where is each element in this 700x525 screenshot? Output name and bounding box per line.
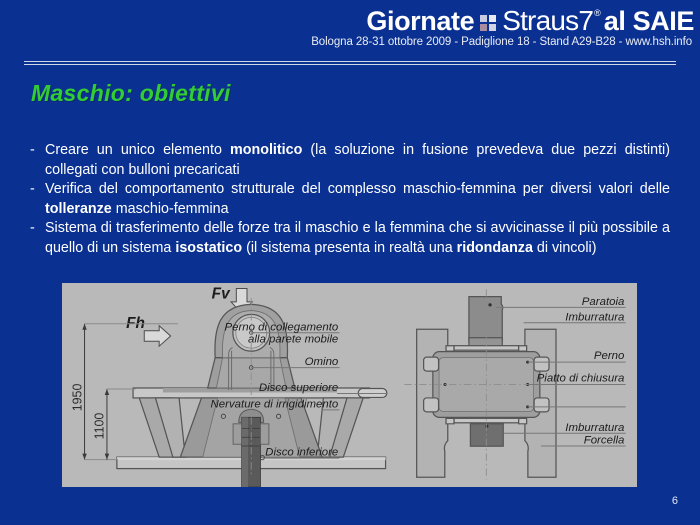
header-title-line: Giornate Straus7 ® al SAIE	[311, 6, 694, 36]
label-perno-collegamento-2: alla parete mobile	[248, 334, 338, 346]
header-branding: Giornate Straus7 ® al SAIE Bologna 28-31…	[311, 6, 694, 48]
label-forcella: Forcella	[584, 434, 625, 446]
bullet-item: -Verifica del comportamento strutturale …	[30, 180, 670, 219]
label-omino: Omino	[305, 356, 339, 368]
slide-header: Giornate Straus7 ® al SAIE Bologna 28-31…	[0, 0, 700, 66]
page-title: Maschio: obiettivi	[31, 80, 231, 107]
bullet-segment: maschio-femmina	[112, 201, 229, 217]
bullet-item: -Sistema di trasferimento delle forze tr…	[30, 219, 670, 258]
technical-drawing-figure: Fv Fh	[62, 283, 637, 487]
header-title-part2: al SAIE	[604, 6, 694, 36]
page-number: 6	[672, 495, 678, 507]
label-perno-collegamento-1: Perno di collegamento	[224, 321, 338, 333]
label-nervature-irrigidimento: Nervature di irrigidimento	[211, 398, 339, 410]
dimension-label-1950: 1950	[70, 384, 84, 412]
label-imburratura-bottom: Imburratura	[565, 422, 624, 434]
bullet-emphasis: ridondanza	[457, 240, 533, 256]
bullet-marker: -	[30, 180, 45, 200]
bullet-emphasis: isostatico	[175, 240, 242, 256]
bullet-segment: Verifica del comportamento strutturale d…	[45, 181, 670, 197]
bullet-emphasis: tolleranze	[45, 201, 112, 217]
bullet-segment: (il sistema presenta in realtà una	[242, 240, 457, 256]
header-title-part1: Giornate	[366, 6, 474, 36]
dimension-label-1100: 1100	[93, 413, 107, 440]
bullet-marker: -	[30, 141, 45, 161]
bullet-marker: -	[30, 219, 45, 239]
header-divider-top	[24, 61, 676, 62]
label-perno: Perno	[594, 350, 625, 362]
label-disco-inferiore: Disco inferiore	[265, 447, 338, 459]
bullet-text: Verifica del comportamento strutturale d…	[45, 180, 670, 219]
label-paratoia: Paratoia	[582, 296, 625, 308]
bullet-segment: Creare un unico elemento	[45, 142, 230, 158]
registered-trademark-icon: ®	[594, 8, 601, 18]
bullet-emphasis: monolitico	[230, 142, 302, 158]
label-piatto-chiusura: Piatto di chiusura	[537, 373, 625, 385]
label-disco-superiore: Disco superiore	[259, 382, 338, 394]
header-subtitle: Bologna 28-31 ottobre 2009 - Padiglione …	[311, 36, 694, 48]
bullet-text: Creare un unico elemento monolitico (la …	[45, 141, 670, 180]
label-imburratura-top: Imburratura	[565, 311, 624, 323]
straus7-squares-logo-icon	[480, 15, 497, 32]
force-fv-label: Fv	[212, 285, 231, 302]
header-divider-bottom	[24, 64, 676, 65]
header-brand: Straus7	[502, 6, 593, 36]
bullet-segment: di vincoli)	[533, 240, 597, 256]
bullet-item: -Creare un unico elemento monolitico (la…	[30, 141, 670, 180]
force-fh-label: Fh	[126, 315, 145, 332]
bullet-list: -Creare un unico elemento monolitico (la…	[30, 141, 670, 258]
bullet-text: Sistema di trasferimento delle forze tra…	[45, 219, 670, 258]
